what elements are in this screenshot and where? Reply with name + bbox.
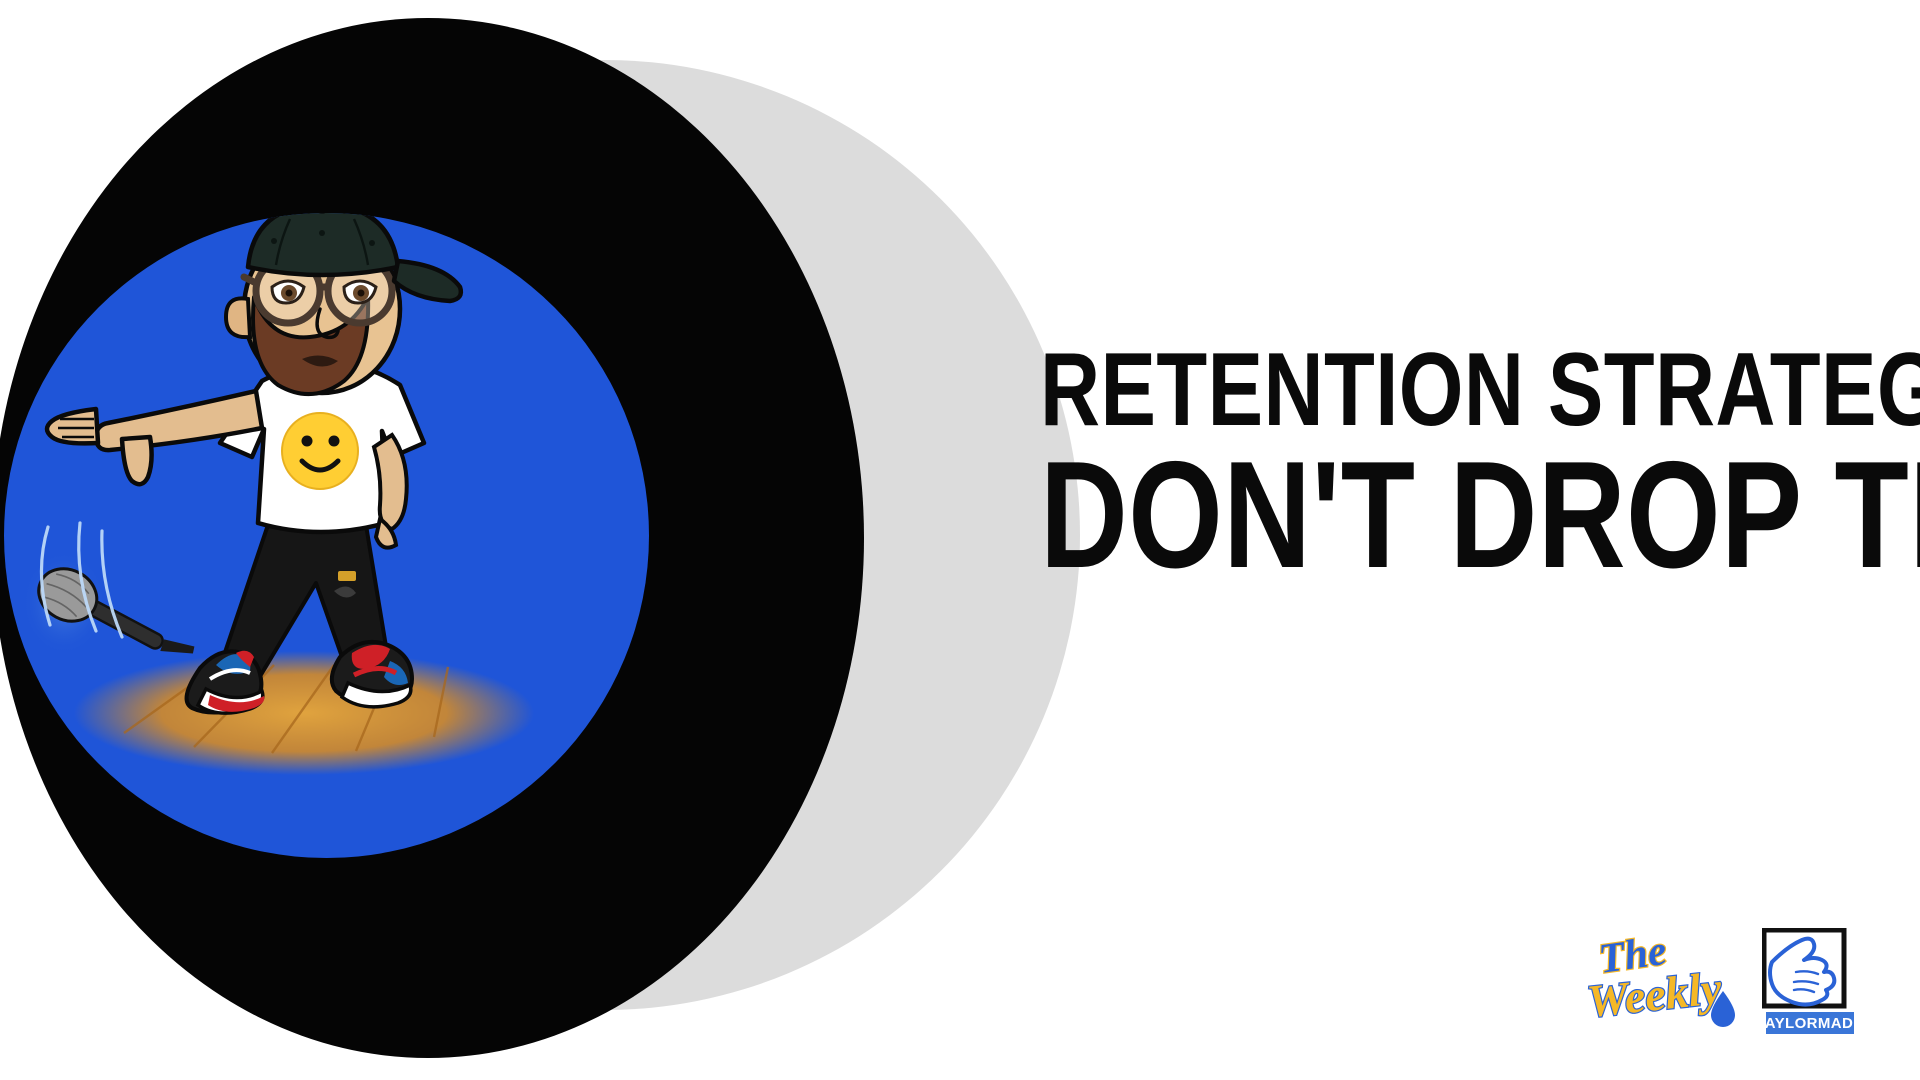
taylormade-logo: TAYLORMADE xyxy=(1762,928,1858,1040)
sneaker-right xyxy=(332,642,412,707)
avatar-head xyxy=(226,213,461,394)
blue-avatar-circle xyxy=(4,213,649,858)
title-line-1: RETENTION STRATEGIES: xyxy=(1040,342,1848,439)
right-arm xyxy=(374,435,407,548)
title-block: RETENTION STRATEGIES: DON'T DROP THE MIC xyxy=(838,342,1848,586)
wooden-floor-spotlight xyxy=(74,651,534,775)
slide-canvas: RETENTION STRATEGIES: DON'T DROP THE MIC… xyxy=(0,0,1920,1080)
the-weekly-logo: The Weekly xyxy=(1585,929,1740,1039)
logo-row: The Weekly TAYLORMADE xyxy=(1585,928,1858,1040)
taylormade-label: TAYLORMADE xyxy=(1762,1015,1858,1032)
avatar-illustration xyxy=(4,213,649,858)
title-line-2: DON'T DROP THE MIC xyxy=(1040,445,1848,586)
